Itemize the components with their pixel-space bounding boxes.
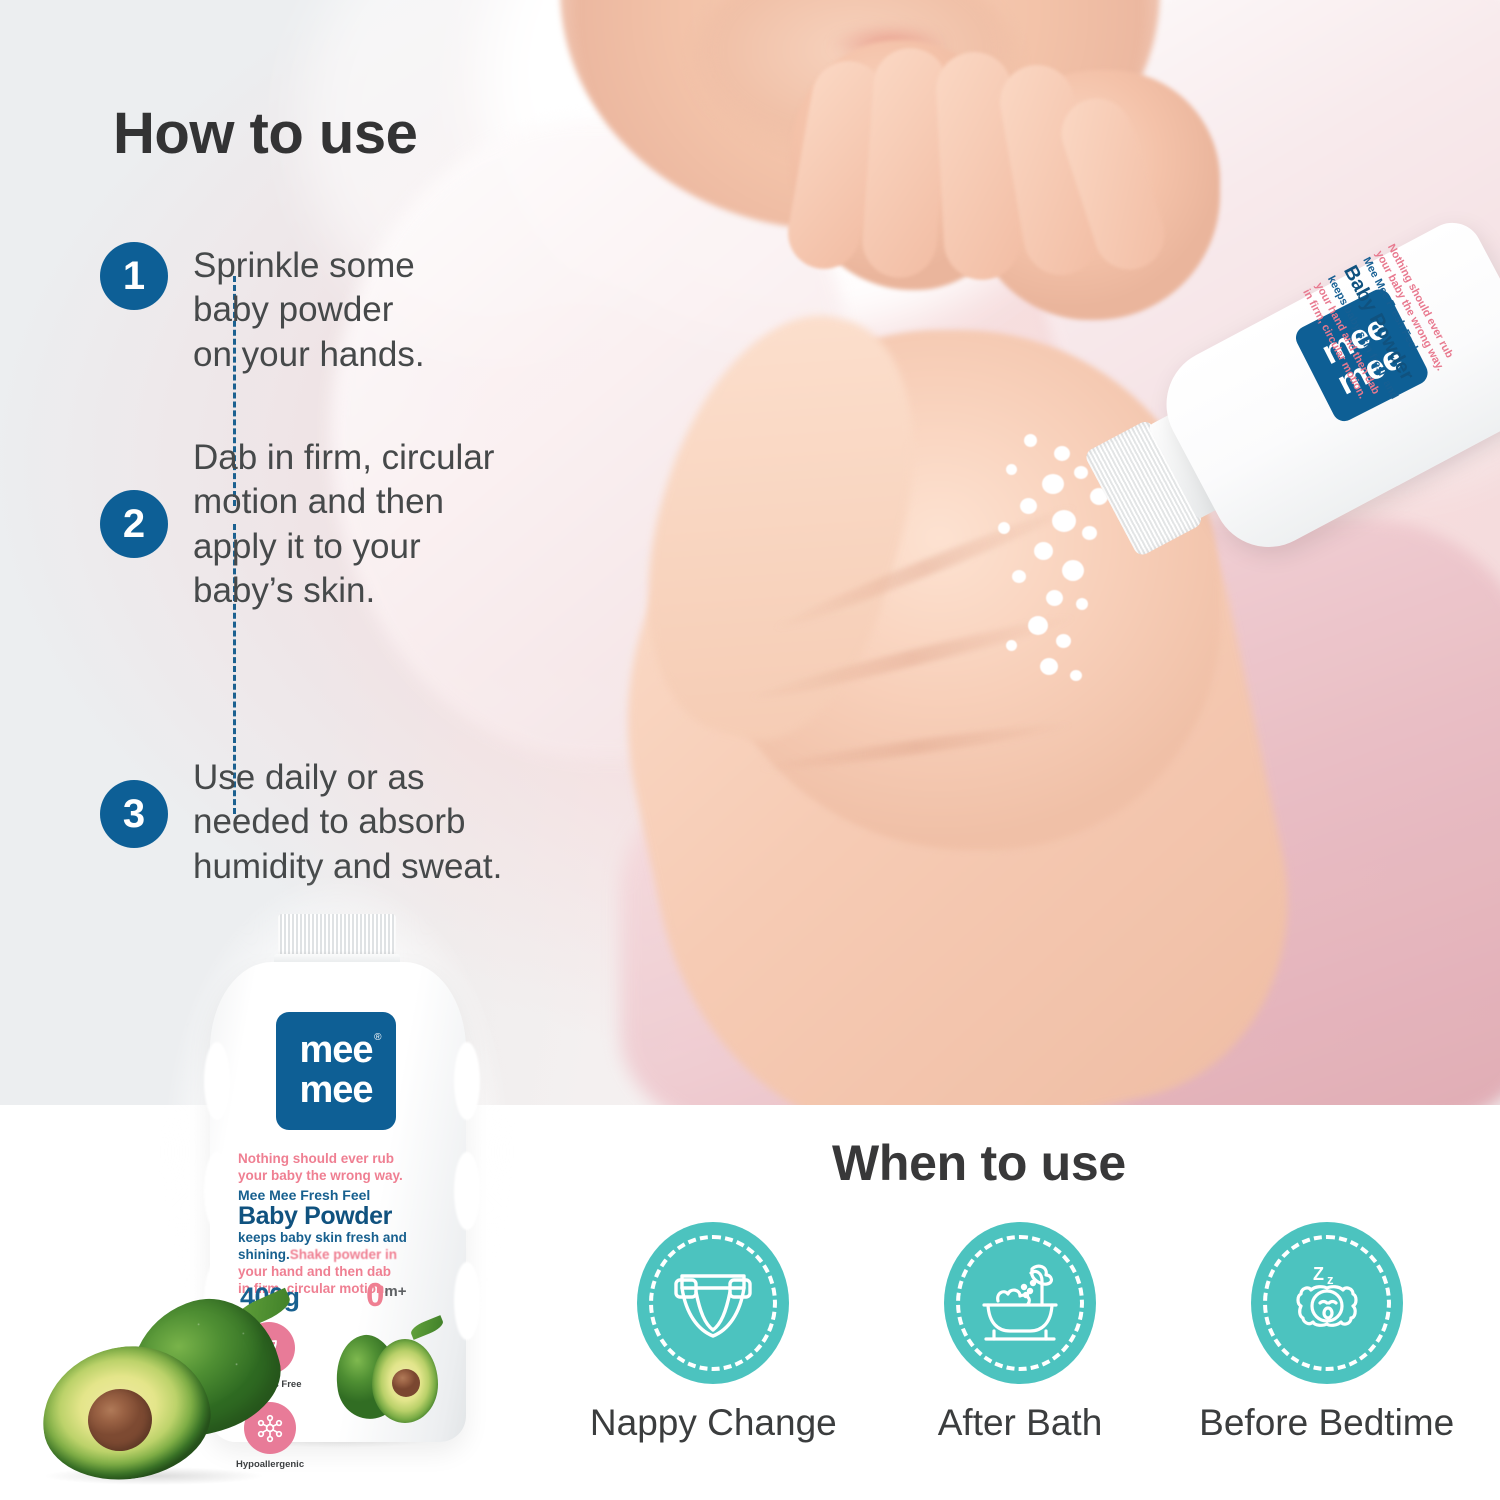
label-product-name: Baby Powder xyxy=(238,1203,448,1229)
step-text: Dab in firm, circular motion and then ap… xyxy=(193,434,494,614)
label-tagline-1: Nothing should ever rub xyxy=(238,1150,448,1167)
diaper-icon xyxy=(637,1222,789,1384)
when-item-after-bath[interactable]: After Bath xyxy=(867,1222,1174,1444)
avocado-photo xyxy=(36,1295,296,1485)
when-item-label: After Bath xyxy=(938,1402,1103,1444)
label-desc-2: shining. Shake powder in xyxy=(238,1246,448,1263)
age-zero: 0 xyxy=(366,1280,384,1309)
when-item-label: Before Bedtime xyxy=(1199,1402,1454,1444)
bottle-label-copy: Nothing should ever rub your baby the wr… xyxy=(238,1150,448,1297)
age-unit: m+ xyxy=(384,1283,406,1300)
when-item-before-bedtime[interactable]: Z z Before Bedtime xyxy=(1173,1222,1480,1444)
step-text: Sprinkle some baby powder on your hands. xyxy=(193,242,425,377)
label-desc-shining: shining. xyxy=(238,1247,290,1262)
how-to-use-title: How to use xyxy=(113,100,417,167)
infographic-canvas: mee mee Nothing should ever rub your bab… xyxy=(0,0,1500,1500)
label-desc-3: your hand and then dab xyxy=(238,1263,448,1280)
label-desc-shake: Shake powder in xyxy=(290,1246,397,1263)
when-to-use-grid: Nappy Change After Bath xyxy=(560,1222,1480,1444)
step-number-badge: 3 xyxy=(100,780,168,848)
brand-logo-line1: mee ® xyxy=(299,1031,372,1071)
brand-logo: mee ® mee xyxy=(276,1012,396,1130)
when-item-label: Nappy Change xyxy=(590,1402,837,1444)
label-sub-brand: Mee Mee Fresh Feel xyxy=(238,1187,448,1203)
brand-logo-line2: mee xyxy=(299,1071,372,1111)
pillow-sleep-icon: Z z xyxy=(1251,1222,1403,1384)
step-item-2: 2 Dab in firm, circular motion and then … xyxy=(100,490,494,614)
brand-word-1: mee xyxy=(299,1029,372,1071)
label-desc-1: keeps baby skin fresh and xyxy=(238,1229,448,1246)
bathtub-icon xyxy=(944,1222,1096,1384)
bottle-cap xyxy=(278,914,396,956)
avocado-illustration xyxy=(330,1317,450,1427)
svg-text:Z: Z xyxy=(1313,1264,1324,1284)
svg-text:z: z xyxy=(1327,1272,1334,1287)
step-number-badge: 2 xyxy=(100,490,168,558)
label-age-group: 0 m+ xyxy=(366,1280,406,1309)
step-item-1: 1 Sprinkle some baby powder on your hand… xyxy=(100,242,425,377)
when-item-nappy-change[interactable]: Nappy Change xyxy=(560,1222,867,1444)
step-number-badge: 1 xyxy=(100,242,168,310)
label-tagline-2: your baby the wrong way. xyxy=(238,1167,448,1184)
registered-mark: ® xyxy=(374,1033,380,1043)
when-to-use-title: When to use xyxy=(832,1134,1126,1192)
